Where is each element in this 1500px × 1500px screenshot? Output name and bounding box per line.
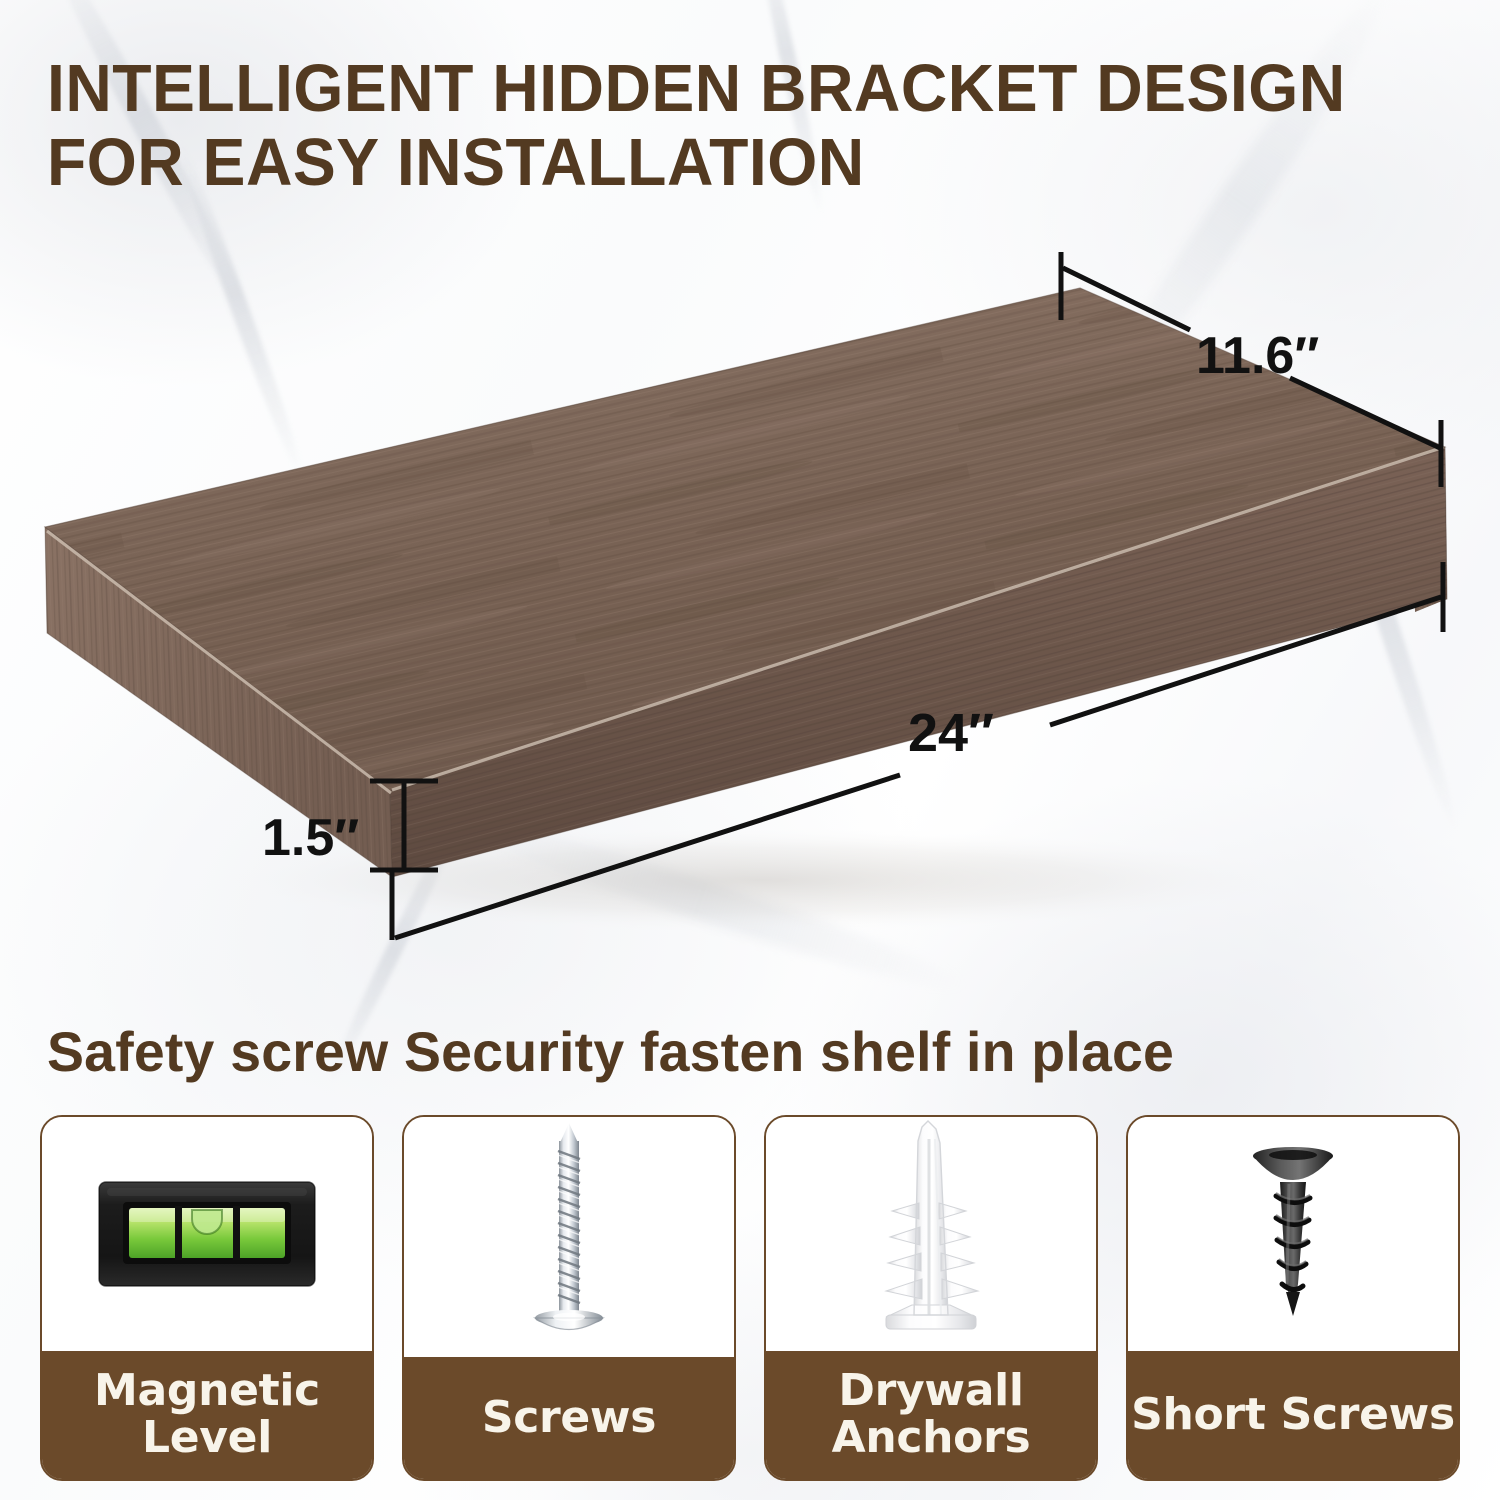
hardware-card-screws[interactable]: Screws bbox=[402, 1115, 736, 1481]
section-subtitle: Safety screw Security fasten shelf in pl… bbox=[47, 1022, 1174, 1082]
dimension-label-depth: 11.6″ bbox=[1196, 326, 1319, 386]
product-infographic: INTELLIGENT HIDDEN BRACKET DESIGN FOR EA… bbox=[0, 0, 1500, 1500]
dimension-label-width: 24″ bbox=[908, 702, 994, 764]
card-label: Short Screws bbox=[1128, 1351, 1458, 1479]
hardware-card-row: Magnetic Level bbox=[40, 1115, 1460, 1481]
drywall-anchor-icon bbox=[856, 1119, 1006, 1349]
card-label: Drywall Anchors bbox=[766, 1351, 1096, 1479]
card-image-area bbox=[766, 1117, 1096, 1351]
hardware-card-magnetic-level[interactable]: Magnetic Level bbox=[40, 1115, 374, 1481]
card-image-area bbox=[42, 1117, 372, 1351]
short-screw-icon bbox=[1218, 1134, 1368, 1334]
card-image-area bbox=[404, 1117, 734, 1357]
card-image-area bbox=[1128, 1117, 1458, 1351]
dimension-label-thickness: 1.5″ bbox=[262, 808, 359, 868]
screw-icon bbox=[509, 1117, 629, 1357]
hardware-card-drywall-anchors[interactable]: Drywall Anchors bbox=[764, 1115, 1098, 1481]
card-label: Screws bbox=[404, 1357, 734, 1479]
shelf-illustration: 11.6″ 24″ 1.5″ bbox=[0, 0, 1500, 1010]
magnetic-level-icon bbox=[97, 1178, 317, 1290]
hardware-card-short-screws[interactable]: Short Screws bbox=[1126, 1115, 1460, 1481]
shelf-svg bbox=[0, 0, 1500, 1010]
card-label: Magnetic Level bbox=[42, 1351, 372, 1479]
